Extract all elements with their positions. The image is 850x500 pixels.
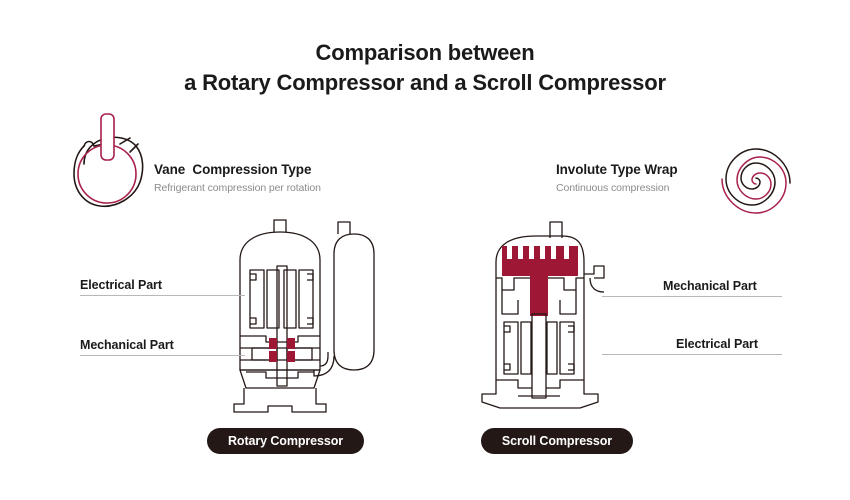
diagram-canvas: Comparison between a Rotary Compressor a… bbox=[0, 0, 850, 500]
involute-spiral-icon bbox=[700, 124, 812, 241]
vane-compression-icon bbox=[44, 108, 156, 225]
leader-line-left-electrical bbox=[80, 295, 245, 296]
leader-line-right-electrical bbox=[602, 354, 782, 355]
leader-line-right-mechanical bbox=[602, 296, 782, 297]
page-title: Comparison between a Rotary Compressor a… bbox=[0, 38, 850, 98]
right-type-heading: Involute Type Wrap bbox=[556, 162, 677, 177]
left-type-subtitle: Refrigerant compression per rotation bbox=[154, 182, 321, 194]
title-line-1: Comparison between bbox=[0, 38, 850, 68]
callout-left-electrical: Electrical Part bbox=[80, 278, 162, 292]
rotary-compressor-cutaway bbox=[222, 218, 397, 423]
title-line-2: a Rotary Compressor and a Scroll Compres… bbox=[0, 68, 850, 98]
rotary-compressor-badge[interactable]: Rotary Compressor bbox=[207, 428, 364, 454]
scroll-compressor-cutaway bbox=[478, 218, 643, 423]
scroll-compressor-badge[interactable]: Scroll Compressor bbox=[481, 428, 633, 454]
right-type-subtitle: Continuous compression bbox=[556, 182, 669, 194]
leader-line-left-mechanical bbox=[80, 355, 245, 356]
callout-left-mechanical: Mechanical Part bbox=[80, 338, 174, 352]
callout-right-mechanical: Mechanical Part bbox=[663, 279, 757, 293]
callout-right-electrical: Electrical Part bbox=[676, 337, 758, 351]
left-type-heading: Vane Compression Type bbox=[154, 162, 311, 177]
